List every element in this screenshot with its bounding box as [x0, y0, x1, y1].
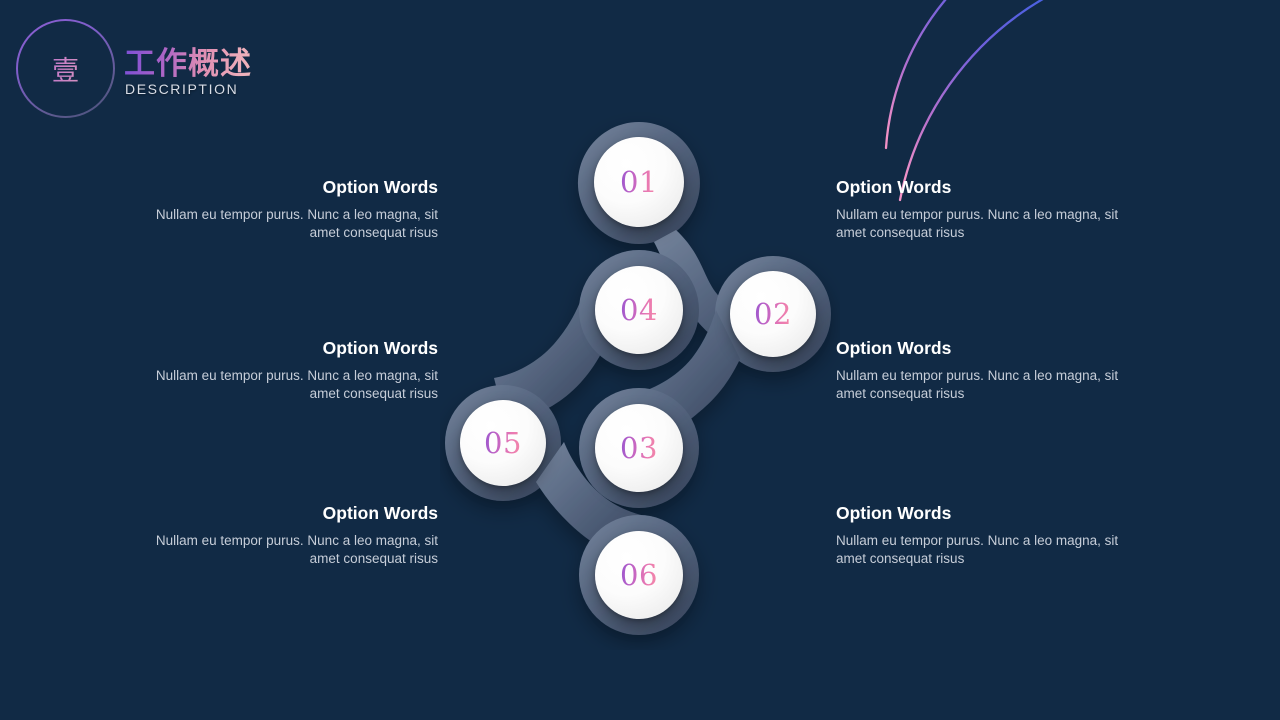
node-02-label: 02 [754, 300, 792, 329]
node-05-label: 05 [484, 429, 522, 458]
text-block-3-heading: Option Words [138, 339, 438, 358]
text-block-5-heading: Option Words [138, 504, 438, 523]
node-05[interactable]: 05 [460, 400, 546, 486]
decorative-arcs [880, 0, 1280, 330]
text-block-1-body: Nullam eu tempor purus. Nunc a leo magna… [138, 206, 438, 242]
text-block-5: Option Words Nullam eu tempor purus. Nun… [138, 504, 438, 568]
node-03[interactable]: 03 [595, 404, 683, 492]
node-03-label: 03 [620, 434, 658, 463]
page-subtitle: DESCRIPTION [125, 81, 238, 97]
node-01[interactable]: 01 [594, 137, 684, 227]
text-block-2-body: Nullam eu tempor purus. Nunc a leo magna… [836, 206, 1136, 242]
node-06-label: 06 [620, 561, 658, 590]
text-block-2-heading: Option Words [836, 178, 1136, 197]
badge-character: 壹 [16, 19, 115, 118]
node-06[interactable]: 06 [595, 531, 683, 619]
text-block-5-body: Nullam eu tempor purus. Nunc a leo magna… [138, 532, 438, 568]
text-block-4-body: Nullam eu tempor purus. Nunc a leo magna… [836, 367, 1136, 403]
text-block-2: Option Words Nullam eu tempor purus. Nun… [836, 178, 1136, 242]
text-block-1-heading: Option Words [138, 178, 438, 197]
node-04-label: 04 [620, 296, 658, 325]
text-block-3-body: Nullam eu tempor purus. Nunc a leo magna… [138, 367, 438, 403]
text-block-3: Option Words Nullam eu tempor purus. Nun… [138, 339, 438, 403]
text-block-6-heading: Option Words [836, 504, 1136, 523]
text-block-4: Option Words Nullam eu tempor purus. Nun… [836, 339, 1136, 403]
node-04[interactable]: 04 [595, 266, 683, 354]
page-title: 工作概述 [124, 38, 252, 83]
text-block-4-heading: Option Words [836, 339, 1136, 358]
node-diagram: 01 04 02 05 03 06 [440, 110, 840, 650]
node-02[interactable]: 02 [730, 271, 816, 357]
text-block-6-body: Nullam eu tempor purus. Nunc a leo magna… [836, 532, 1136, 568]
text-block-6: Option Words Nullam eu tempor purus. Nun… [836, 504, 1136, 568]
slide-canvas: 壹 工作概述 DESCRIPTION [0, 0, 1280, 720]
node-01-label: 01 [620, 168, 658, 197]
section-number-badge: 壹 [16, 19, 115, 118]
text-block-1: Option Words Nullam eu tempor purus. Nun… [138, 178, 438, 242]
